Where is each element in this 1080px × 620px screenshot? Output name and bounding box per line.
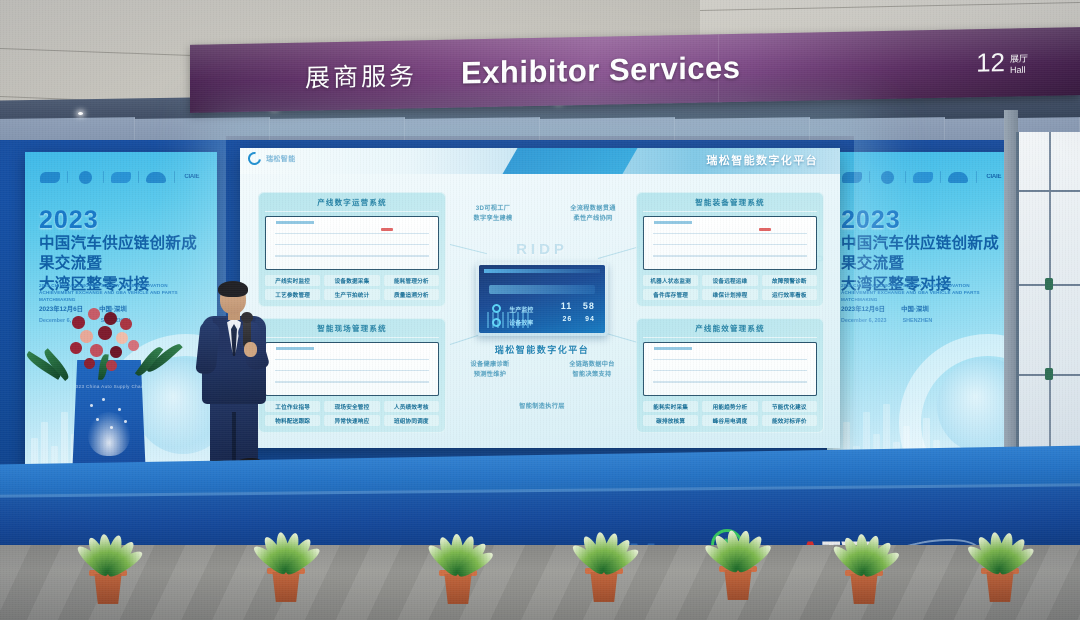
panel-tag-list: 工位作业指导 现场安全管控 人员绩效考核 物料配送跟踪 异常快速响应 班组协同调…: [265, 401, 439, 426]
panel-tag: 能耗管理分析: [384, 275, 439, 286]
speaker-hand: [244, 342, 257, 357]
hall-label-cn: 展厅: [1010, 54, 1028, 65]
potted-plant: [556, 498, 652, 602]
risong-mark-icon: [245, 149, 263, 167]
hall-marker: 12 展厅 Hall: [976, 47, 1028, 79]
panel-tag: 碳排放核算: [643, 415, 698, 426]
potted-plant: [816, 500, 912, 604]
banner-date-cn: 2023年12月6日: [841, 304, 885, 316]
banner-logo-row: CIAIE: [835, 166, 1011, 188]
banner-location-cn: 中国·深圳: [901, 304, 929, 316]
glass-window-wall: [1016, 132, 1080, 462]
tablet-dashboard: 生产监控 设备效率 11 58 26 94: [479, 265, 605, 333]
byd-logo: [141, 169, 171, 186]
risong-logo: 瑞松智能: [248, 152, 296, 165]
hub-acronym: RIDP: [516, 241, 568, 258]
panel-tag-list: 机器人状态监测 设备远程运维 故障预警诊断 备件库存管理 维保计划排程 运行效率…: [643, 275, 817, 300]
panel-screenshot: [265, 216, 439, 270]
panel-screenshot: [643, 342, 817, 396]
banner-year: 2023: [39, 206, 99, 235]
annotation-top-left: 3D可视工厂 数字孪生建模: [456, 204, 530, 223]
exhibition-photo-scene: 展商服务 Exhibitor Services 12 展厅 Hall CIAIE…: [0, 0, 1080, 620]
panel-top-right[interactable]: 智能装备管理系统 机器人状态监测 设备远程运维 故障预警诊断 备件库存管理 维保…: [636, 192, 824, 307]
speaker-person: [186, 282, 282, 478]
hub-caption: 瑞松智能数字化平台: [495, 343, 590, 356]
panel-tag: 现场安全管控: [324, 401, 379, 412]
logo-divider: [67, 171, 68, 183]
slide-title: 瑞松智能数字化平台: [706, 152, 818, 168]
logo-divider: [905, 171, 906, 183]
ciaie-logo: CIAIE: [177, 169, 207, 186]
panel-tag: 生产节拍统计: [324, 289, 379, 300]
tablet-device: 生产监控 设备效率 11 58 26 94: [476, 262, 608, 336]
panel-tag-list: 能耗实时采集 用能趋势分析 节能优化建议 碳排放核算 峰谷用电调度 能效对标评价: [643, 401, 817, 426]
panel-title: 产线能效管理系统: [643, 323, 817, 338]
logo-divider: [103, 171, 104, 183]
potted-plant: [952, 498, 1048, 602]
ceiling-light: [78, 112, 83, 115]
panel-tag: 机器人状态监测: [643, 275, 698, 286]
speaker-hair: [218, 281, 248, 297]
potted-plant: [410, 500, 506, 604]
risong-logo-text: 瑞松智能: [266, 154, 296, 164]
potted-plant: [60, 500, 156, 604]
exhibition-floor: [0, 545, 1080, 620]
panel-tag: 质量追溯分析: [384, 289, 439, 300]
banner-location-en: SHENZHEN: [903, 316, 933, 326]
panel-bottom-left[interactable]: 智能现场管理系统 工位作业指导 现场安全管控 人员绩效考核 物料配送跟踪 异常快…: [258, 318, 446, 433]
flower-arrangement: [58, 300, 162, 378]
gac-logo: [35, 169, 65, 186]
annotation-bottom-center: 智能制造执行层: [502, 402, 582, 412]
logo-divider: [138, 171, 139, 183]
panel-tag: 人员绩效考核: [384, 401, 439, 412]
dongfeng-logo: [70, 169, 100, 186]
banner-title-line1: 中国汽车供应链创新成果交流暨: [39, 234, 205, 275]
panel-tag: 用能趋势分析: [702, 401, 757, 412]
panel-screenshot: [265, 342, 439, 396]
podium-emblem: [88, 412, 130, 456]
panel-tag-list: 产线实时监控 设备数据采集 能耗管理分析 工艺参数管理 生产节拍统计 质量追溯分…: [265, 275, 439, 300]
panel-title: 智能装备管理系统: [643, 197, 817, 212]
banner-date-en: December 6, 2023: [841, 316, 887, 326]
panel-tag: 设备数据采集: [324, 275, 379, 286]
logo-divider: [940, 171, 941, 183]
potted-plant: [238, 498, 334, 602]
banner-right: CIAIE 2023 中国汽车供应链创新成果交流暨 大湾区整零对接 2023 C…: [827, 152, 1019, 472]
panel-tag: 能耗实时采集: [643, 401, 698, 412]
atw-logo: [106, 169, 136, 186]
atw-logo: [908, 169, 938, 186]
panel-tag: 节能优化建议: [762, 401, 817, 412]
annotation-top-right: 全流程数据贯通 柔性产线协同: [554, 204, 632, 223]
speaker-leg-gap: [232, 412, 236, 464]
panel-tag: 备件库存管理: [643, 289, 698, 300]
window-mullion: [1019, 190, 1080, 192]
panel-tag: 维保计划排程: [702, 289, 757, 300]
potted-plant: [690, 496, 786, 600]
panel-tag: 班组协同调度: [384, 415, 439, 426]
window-hinge: [1045, 278, 1053, 290]
platform-hub: RIDP 生产监控 设备效率 11 58 26 94 瑞松智能数字化平台: [468, 228, 616, 368]
panel-title: 智能现场管理系统: [265, 323, 439, 338]
panel-tag: 异常快速响应: [324, 415, 379, 426]
panel-tag: 运行效率看板: [762, 289, 817, 300]
gac-logo: [837, 169, 867, 186]
led-presentation-screen: 瑞松智能 瑞松智能数字化平台 RIDP 产线数字运营系统 产线实时监控 设备数据…: [240, 148, 840, 448]
banner-meta-en: December 6, 2023 SHENZHEN: [841, 316, 1005, 326]
panel-tag: 能效对标评价: [762, 415, 817, 426]
panel-tag: 峰谷用电调度: [702, 415, 757, 426]
banner-meta-cn: 2023年12月6日 中国·深圳: [841, 304, 1005, 316]
panel-title: 产线数字运营系统: [265, 197, 439, 212]
podium-text: 2023 China Auto Supply Chain: [73, 384, 146, 389]
banner-logo-row: CIAIE: [33, 166, 209, 188]
sign-title-cn: 展商服务: [305, 56, 417, 94]
hall-label-en: Hall: [1010, 64, 1028, 75]
banner-meta: 2023年12月6日 中国·深圳 December 6, 2023 SHENZH…: [841, 304, 1005, 326]
panel-screenshot: [643, 216, 817, 270]
microphone-head-icon: [241, 312, 253, 323]
panel-tag: 故障预警诊断: [762, 275, 817, 286]
panel-bottom-right[interactable]: 产线能效管理系统 能耗实时采集 用能趋势分析 节能优化建议 碳排放核算 峰谷用电…: [636, 318, 824, 433]
logo-divider: [976, 171, 977, 183]
logo-divider: [869, 171, 870, 183]
window-hinge: [1045, 368, 1053, 380]
hall-label: 展厅 Hall: [1010, 54, 1028, 78]
window-mullion-vertical: [1049, 132, 1051, 462]
panel-top-left[interactable]: 产线数字运营系统 产线实时监控 设备数据采集 能耗管理分析 工艺参数管理 生产节…: [258, 192, 446, 307]
byd-logo: [943, 169, 973, 186]
banner-subtitle-en: 2023 CHINA AUTOMOTIVE SUPPLY CHAIN INNOV…: [841, 282, 1003, 303]
banner-title-line1: 中国汽车供应链创新成果交流暨: [841, 234, 1007, 275]
panel-tag: 设备远程运维: [702, 275, 757, 286]
banner-year: 2023: [841, 206, 901, 235]
sign-title-en: Exhibitor Services: [461, 50, 741, 92]
dongfeng-logo: [872, 169, 902, 186]
hall-number: 12: [976, 47, 1005, 79]
logo-divider: [174, 171, 175, 183]
